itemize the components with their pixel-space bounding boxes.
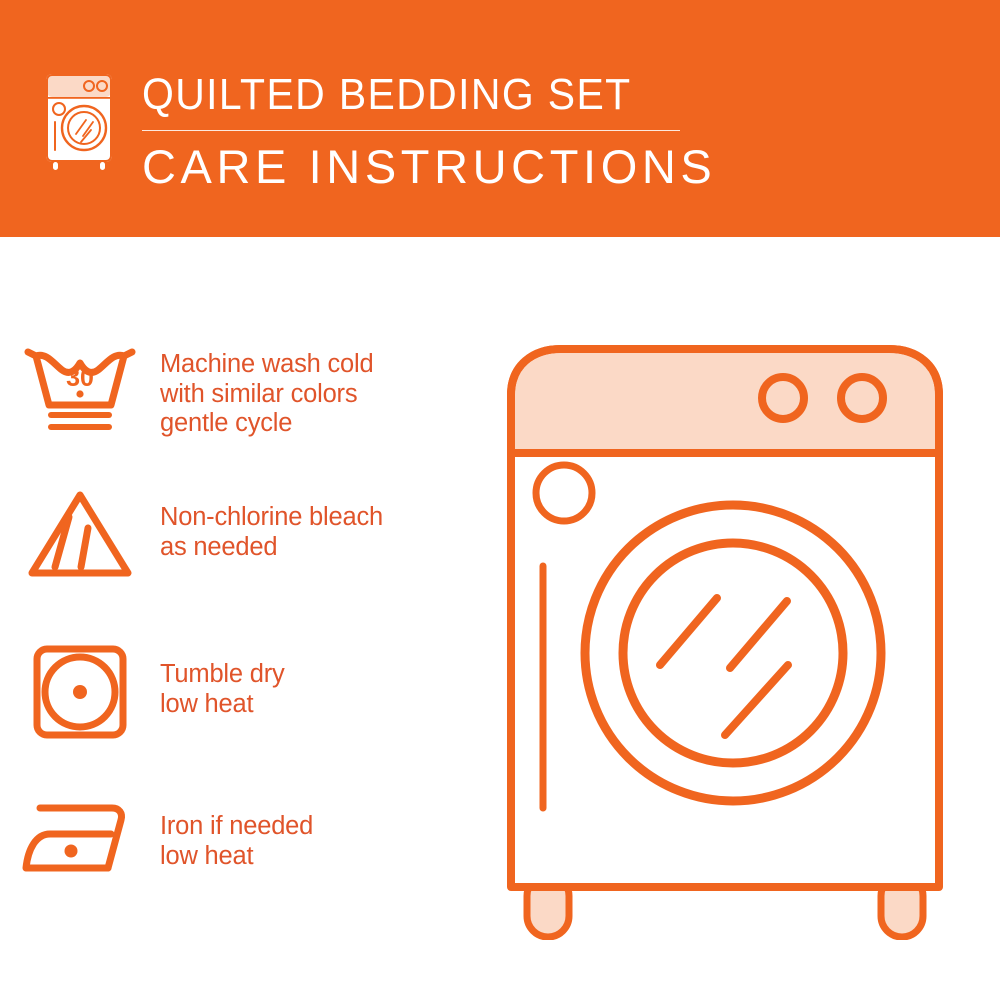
instruction-text: Non-chlorine bleach as needed — [160, 485, 383, 562]
triangle-non-chlorine-bleach-icon — [0, 485, 160, 581]
iron-low-heat-icon — [0, 792, 160, 882]
care-instructions-infographic: QUILTED BEDDING SET CARE INSTRUCTIONS 30… — [0, 0, 1000, 1000]
instruction-line: low heat — [160, 690, 285, 720]
instruction-line: as needed — [160, 533, 383, 563]
title-block: QUILTED BEDDING SET CARE INSTRUCTIONS — [142, 70, 702, 194]
list-item: Tumble dry low heat — [0, 640, 470, 742]
page-title: CARE INSTRUCTIONS — [142, 140, 702, 194]
instruction-line: Non-chlorine bleach — [160, 503, 383, 533]
wash-temperature-label: 30 — [66, 364, 94, 392]
instruction-line: Iron if needed — [160, 812, 313, 842]
instruction-line: low heat — [160, 842, 313, 872]
instruction-line: Tumble dry — [160, 660, 285, 690]
washing-machine-icon — [44, 72, 116, 174]
list-item: Iron if needed low heat — [0, 792, 470, 882]
instruction-line: Machine wash cold — [160, 350, 373, 380]
list-item: Non-chlorine bleach as needed — [0, 485, 470, 581]
washing-machine-illustration — [495, 335, 955, 940]
instruction-text: Iron if needed low heat — [160, 792, 313, 871]
instruction-line: gentle cycle — [160, 409, 373, 439]
title-divider — [142, 130, 680, 131]
instruction-line: with similar colors — [160, 380, 373, 410]
instruction-text: Machine wash cold with similar colors ge… — [160, 340, 373, 439]
header-banner: QUILTED BEDDING SET CARE INSTRUCTIONS — [0, 0, 1000, 237]
washer-control-panel — [515, 353, 935, 451]
wash-basin-30-gentle-icon: 30 — [0, 340, 160, 440]
product-title: QUILTED BEDDING SET — [142, 70, 663, 120]
tumble-dry-low-heat-icon — [0, 640, 160, 742]
list-item: 30 Machine wash cold with similar colors… — [0, 340, 470, 440]
instruction-text: Tumble dry low heat — [160, 640, 285, 719]
